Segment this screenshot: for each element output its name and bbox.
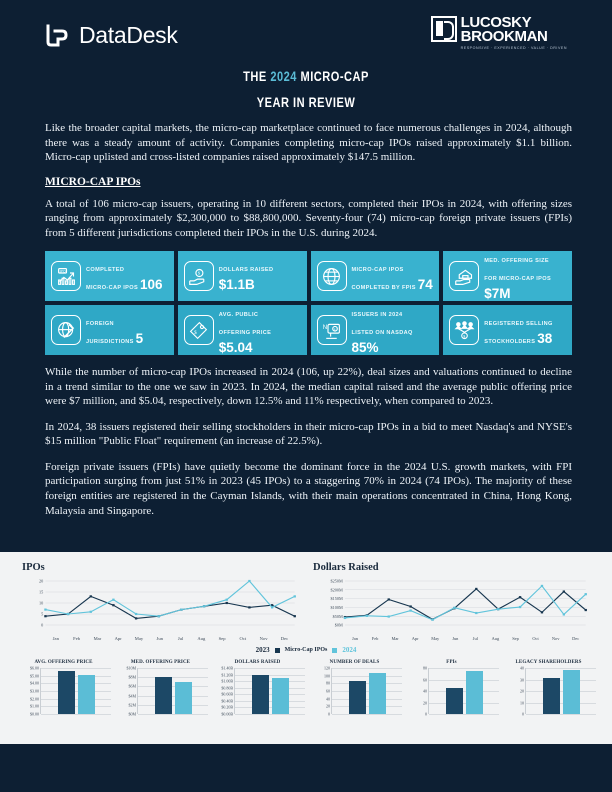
paragraph-5: Foreign private issuers (FPIs) have quie… — [45, 460, 572, 518]
svg-text:$200M: $200M — [331, 588, 344, 593]
title-prefix: THE — [243, 69, 270, 84]
bar-y-axis: $0M$2M$4M$6M$8M$10M — [113, 668, 137, 714]
legend-series-title: Micro-Cap IPOs — [285, 647, 328, 653]
svg-text:$250M: $250M — [331, 579, 344, 584]
bar-y-tick: $8M — [128, 675, 136, 680]
x-tick-label: Aug — [485, 636, 505, 641]
stat-card-label: DOLLARS RAISED — [219, 267, 274, 273]
gridline — [138, 705, 208, 706]
gridline — [41, 676, 111, 677]
title-line-1: THE 2024 MICRO-CAP — [55, 64, 557, 90]
datadesk-wordmark: DataDesk — [79, 22, 178, 49]
x-tick-label: Jul — [465, 636, 485, 641]
gridline — [41, 706, 111, 707]
x-tick-label: Jun — [149, 636, 170, 641]
x-axis-dollars-raised: JanFebMarAprMayJunJulAugSepOctNovDec — [345, 636, 586, 641]
bar-y-axis: 020406080 — [404, 668, 428, 714]
bar-y-tick: 120 — [324, 666, 330, 671]
bar-y-tick: 10 — [520, 700, 524, 705]
gridline — [526, 668, 596, 669]
lucosky-lb-monogram-icon — [431, 16, 457, 42]
stat-card-fpi-ipos: MICRO-CAP IPOS COMPLETED BY FPIS 74 — [311, 251, 440, 301]
gridline — [429, 680, 499, 681]
bar-y-tick: $6M — [128, 684, 136, 689]
stat-card-avg-public-offering-price: $ AVG. PUBLIC OFFERING PRICE $5.04 — [178, 305, 307, 355]
stat-card-dollars-raised: $ DOLLARS RAISED $1.1B — [178, 251, 307, 301]
title-suffix: MICRO-CAP — [297, 69, 369, 84]
x-tick-label: Mar — [385, 636, 405, 641]
legend-label-2024: 2024 — [342, 646, 356, 654]
bar-2024 — [466, 671, 483, 714]
line-plot-dollars-raised: $0M$50M$100M$150M$200M$250M — [313, 577, 590, 635]
svg-text:15: 15 — [39, 590, 43, 595]
stat-label-line1: REGISTERED SELLING — [484, 321, 552, 327]
bar-y-tick: $4.00 — [30, 681, 39, 686]
bar-y-tick: $10M — [126, 666, 136, 671]
paragraph-2: A total of 106 micro-cap issuers, operat… — [45, 197, 572, 241]
gridline — [526, 691, 596, 692]
bar-y-tick: 60 — [423, 677, 427, 682]
stat-card-label: MED. OFFERING SIZE FOR MICRO-CAP IPOS — [484, 258, 551, 282]
stat-card-grid: IPO COMPLETED MICRO-CAP IPOS 106 — [45, 251, 572, 355]
gridline — [235, 681, 305, 682]
gridline — [41, 699, 111, 700]
bar-y-tick: $1.20B — [221, 672, 233, 677]
bar-y-tick: 20 — [423, 700, 427, 705]
gridline — [235, 668, 305, 669]
bar-y-tick: 80 — [423, 666, 427, 671]
gridline — [235, 675, 305, 676]
bar-y-tick: $6.00 — [30, 666, 39, 671]
stat-card-value: $5.04 — [219, 340, 253, 355]
chart-legend: 2023 Micro-Cap IPOs 2024 — [0, 646, 612, 654]
svg-text:20: 20 — [39, 579, 43, 584]
gridline — [41, 714, 111, 715]
x-tick-label: Sep — [212, 636, 233, 641]
bar-chart-dollars-raised: DOLLARS RAISED$0.00B$0.20B$0.40B$0.60B$0… — [210, 660, 305, 714]
x-tick-label: Apr — [108, 636, 129, 641]
bar-y-tick: $1.00B — [221, 679, 233, 684]
stat-card-completed-ipos: IPO COMPLETED MICRO-CAP IPOS 106 — [45, 251, 174, 301]
stat-card-med-offering-size: MED. OFFERING SIZE FOR MICRO-CAP IPOS $7… — [443, 251, 572, 301]
gridline — [526, 680, 596, 681]
stockholders-icon: $ — [449, 315, 479, 345]
x-tick-label: Jan — [45, 636, 66, 641]
legend-label-2023: 2023 — [256, 646, 270, 654]
bar-2023 — [349, 681, 366, 714]
x-tick-label: Nov — [253, 636, 274, 641]
gridline — [429, 668, 499, 669]
gridline — [429, 703, 499, 704]
legend-swatch-2024 — [332, 648, 337, 653]
paragraph-3: While the number of micro-cap IPOs incre… — [45, 365, 572, 409]
bar-chart-number-of-deals: NUMBER OF DEALS020406080100120 — [307, 660, 402, 714]
paragraph-4: In 2024, 38 issuers registered their sel… — [45, 420, 572, 449]
gridline — [332, 714, 402, 715]
stat-label-line1: ISSUERS IN 2024 — [352, 312, 403, 318]
bar-plot-area — [525, 668, 596, 714]
svg-text:IPO: IPO — [59, 269, 65, 273]
bar-2024 — [175, 682, 192, 714]
paragraph-intro: Like the broader capital markets, the mi… — [45, 121, 572, 165]
gridline — [429, 714, 499, 715]
stat-card-label: FOREIGN JURISDICTIONS — [86, 321, 136, 345]
bar-y-tick: 100 — [324, 673, 330, 678]
bar-chart-title: AVG. OFFERING PRICE — [16, 660, 111, 665]
bar-y-axis: $0.00$1.00$2.00$3.00$4.00$5.00$6.00 — [16, 668, 40, 714]
bar-chart-fpis: FPIs020406080 — [404, 660, 499, 714]
gridline — [235, 694, 305, 695]
x-tick-label: Aug — [191, 636, 212, 641]
gridline — [526, 714, 596, 715]
x-tick-label: May — [425, 636, 445, 641]
svg-text:$50M: $50M — [333, 614, 344, 619]
x-tick-label: Dec — [274, 636, 295, 641]
x-tick-label: Jul — [170, 636, 191, 641]
bar-chart-title: NUMBER OF DEALS — [307, 660, 402, 665]
bar-y-tick: 40 — [326, 696, 330, 701]
section-heading-micro-cap-ipos: MICRO-CAP IPOs — [45, 176, 572, 188]
bar-2023 — [252, 675, 269, 714]
stat-card-label: COMPLETED MICRO-CAP IPOS — [86, 267, 140, 291]
bar-y-tick: 0 — [425, 712, 427, 717]
bar-chart-avg-offering-price: AVG. OFFERING PRICE$0.00$1.00$2.00$3.00$… — [16, 660, 111, 714]
nasdaq-monitor-icon: $ N — [317, 315, 347, 345]
report-title: THE 2024 MICRO-CAP YEAR IN REVIEW — [0, 64, 612, 115]
bar-y-tick: $2M — [128, 702, 136, 707]
hand-house-icon — [449, 261, 479, 291]
svg-text:5: 5 — [41, 612, 43, 617]
bar-chart-title: DOLLARS RAISED — [210, 660, 305, 665]
stat-card-value: 74 — [418, 277, 433, 292]
x-tick-label: Oct — [232, 636, 253, 641]
stat-label-line1: AVG. PUBLIC — [219, 312, 259, 318]
stat-label-line2: OFFERING PRICE — [219, 330, 271, 336]
stat-card-value: 5 — [136, 331, 144, 346]
bar-y-tick: 0 — [328, 712, 330, 717]
stat-card-value: 38 — [537, 331, 552, 346]
gridline — [41, 668, 111, 669]
stat-label-line2: MICRO-CAP IPOS — [86, 285, 138, 291]
title-year: 2024 — [270, 69, 297, 84]
gridline — [138, 714, 208, 715]
gridline — [41, 683, 111, 684]
price-tag-icon: $ — [184, 315, 214, 345]
stat-card-value: 85% — [352, 340, 379, 355]
bar-y-tick: 60 — [326, 689, 330, 694]
bar-y-axis: 020406080100120 — [307, 668, 331, 714]
report-page: DataDesk LUCOSKY BROOKMAN RESPONSIVE · E… — [0, 0, 612, 792]
stat-label-line2: JURISDICTIONS — [86, 339, 134, 345]
gridline — [235, 714, 305, 715]
bar-y-axis: $0.00B$0.20B$0.40B$0.60B$0.80B$1.00B$1.2… — [210, 668, 234, 714]
gridline — [41, 691, 111, 692]
svg-text:$: $ — [334, 327, 336, 331]
gridline — [332, 676, 402, 677]
gridline — [235, 701, 305, 702]
bar-y-tick: $0.80B — [221, 685, 233, 690]
datadesk-logo: DataDesk — [45, 22, 178, 49]
report-body: Like the broader capital markets, the mi… — [0, 115, 612, 518]
bar-2023 — [58, 671, 75, 714]
chart-title-ipos: IPOs — [22, 562, 299, 573]
chart-title-dollars-raised: Dollars Raised — [313, 562, 590, 573]
x-axis-ipos: JanFebMarAprMayJunJulAugSepOctNovDec — [45, 636, 294, 641]
bar-y-tick: 80 — [326, 681, 330, 686]
bar-y-tick: 30 — [520, 677, 524, 682]
stat-label-line2: FOR MICRO-CAP IPOS — [484, 276, 551, 282]
bar-y-tick: $0M — [128, 712, 136, 717]
gridline — [332, 668, 402, 669]
bar-2023 — [543, 678, 560, 714]
bar-y-tick: $0.20B — [221, 705, 233, 710]
x-tick-label: Apr — [405, 636, 425, 641]
x-tick-label: Dec — [566, 636, 586, 641]
stat-card-registered-selling-stockholders: $ REGISTERED SELLING STOCKHOLDERS 38 — [443, 305, 572, 355]
bar-y-tick: 40 — [423, 689, 427, 694]
x-tick-label: Jan — [345, 636, 365, 641]
page-footer — [0, 744, 612, 792]
chart-ipos: IPOs 05101520 JanFebMarAprMayJunJulAugSe… — [22, 562, 299, 641]
bar-2024 — [272, 678, 289, 714]
gridline — [332, 706, 402, 707]
bar-y-tick: $2.00 — [30, 696, 39, 701]
lucosky-line2: BROOKMAN — [461, 30, 567, 44]
stat-card-foreign-jurisdictions: FOREIGN JURISDICTIONS 5 — [45, 305, 174, 355]
bar-y-tick: 20 — [520, 689, 524, 694]
bar-chart-title: FPIs — [404, 660, 499, 665]
bar-y-tick: $1.40B — [221, 666, 233, 671]
bar-plot-area — [331, 668, 402, 714]
gridline — [235, 688, 305, 689]
bar-y-tick: $5.00 — [30, 673, 39, 678]
x-tick-label: Jun — [445, 636, 465, 641]
bar-y-tick: $4M — [128, 693, 136, 698]
stat-card-label: AVG. PUBLIC OFFERING PRICE — [219, 312, 271, 336]
line-plot-ipos: 05101520 — [22, 577, 299, 635]
bar-plot-area — [137, 668, 208, 714]
datadesk-logo-icon — [45, 23, 70, 48]
x-tick-label: May — [129, 636, 150, 641]
stat-label-line2: STOCKHOLDERS — [484, 339, 535, 345]
stat-card-value: $7M — [484, 286, 510, 301]
x-tick-label: Nov — [546, 636, 566, 641]
svg-text:$0M: $0M — [335, 623, 343, 628]
stat-card-label: MICRO-CAP IPOS COMPLETED BY FPIS — [352, 267, 418, 291]
stat-card-value: $1.1B — [219, 277, 255, 292]
ipo-chart-icon: IPO — [51, 261, 81, 291]
title-line-2: YEAR IN REVIEW — [55, 90, 557, 116]
bar-chart-legacy-shareholders: LEGACY SHAREHOLDERS010203040 — [501, 660, 596, 714]
svg-text:N: N — [323, 324, 327, 331]
bar-y-tick: $0.60B — [221, 692, 233, 697]
gridline — [138, 668, 208, 669]
stat-label-line2: LISTED ON NASDAQ — [352, 330, 413, 336]
svg-text:10: 10 — [39, 601, 43, 606]
globe-gavel-icon — [51, 315, 81, 345]
bar-y-tick: $0.40B — [221, 698, 233, 703]
lucosky-tagline: RESPONSIVE · EXPERIENCED · VALUE · DRIVE… — [461, 47, 567, 50]
bar-plot-area — [428, 668, 499, 714]
legend-swatch-2023 — [275, 648, 280, 653]
bar-y-tick: 0 — [522, 712, 524, 717]
bar-y-tick: $1.00 — [30, 704, 39, 709]
svg-text:$150M: $150M — [331, 596, 344, 601]
gridline — [138, 696, 208, 697]
x-tick-label: Feb — [365, 636, 385, 641]
bar-chart-title: MED. OFFERING PRICE — [113, 660, 208, 665]
gridline — [138, 677, 208, 678]
bar-y-axis: 010203040 — [501, 668, 525, 714]
lucosky-brookman-logo: LUCOSKY BROOKMAN RESPONSIVE · EXPERIENCE… — [431, 16, 567, 50]
bar-y-tick: 20 — [326, 704, 330, 709]
stat-label-line2: COMPLETED BY FPIS — [352, 285, 416, 291]
x-tick-label: Oct — [526, 636, 546, 641]
stat-card-label: ISSUERS IN 2024 LISTED ON NASDAQ — [352, 312, 413, 336]
gridline — [429, 691, 499, 692]
gridline — [138, 686, 208, 687]
line-charts-row: IPOs 05101520 JanFebMarAprMayJunJulAugSe… — [0, 552, 612, 641]
svg-text:$: $ — [198, 270, 201, 275]
bar-y-tick: $0.00 — [30, 712, 39, 717]
bar-chart-med-offering-price: MED. OFFERING PRICE$0M$2M$4M$6M$8M$10M — [113, 660, 208, 714]
stat-label-line1: MICRO-CAP IPOS — [352, 267, 404, 273]
bar-2024 — [369, 673, 386, 714]
bar-y-tick: 40 — [520, 666, 524, 671]
stat-label-line1: FOREIGN — [86, 321, 114, 327]
stat-card-nasdaq-listed: $ N ISSUERS IN 2024 LISTED ON NASDAQ 85% — [311, 305, 440, 355]
stat-card-value: 106 — [140, 277, 163, 292]
gridline — [332, 699, 402, 700]
hand-coin-icon: $ — [184, 261, 214, 291]
svg-text:$100M: $100M — [331, 605, 344, 610]
bar-2024 — [563, 670, 580, 714]
x-tick-label: Mar — [87, 636, 108, 641]
bar-2023 — [446, 688, 463, 714]
x-tick-label: Sep — [505, 636, 525, 641]
bar-y-tick: $0.00B — [221, 712, 233, 717]
stat-label-line1: MED. OFFERING SIZE — [484, 258, 549, 264]
bar-2024 — [78, 675, 95, 714]
gridline — [332, 683, 402, 684]
globe-icon — [317, 261, 347, 291]
stat-label-line1: COMPLETED — [86, 267, 124, 273]
bar-charts-row: AVG. OFFERING PRICE$0.00$1.00$2.00$3.00$… — [0, 654, 612, 714]
bar-plot-area — [234, 668, 305, 714]
page-header: DataDesk LUCOSKY BROOKMAN RESPONSIVE · E… — [0, 0, 612, 60]
svg-text:$: $ — [194, 329, 197, 336]
chart-dollars-raised: Dollars Raised $0M$50M$100M$150M$200M$25… — [313, 562, 590, 641]
svg-text:0: 0 — [41, 623, 43, 628]
gridline — [332, 691, 402, 692]
charts-panel: IPOs 05101520 JanFebMarAprMayJunJulAugSe… — [0, 552, 612, 744]
x-tick-label: Feb — [66, 636, 87, 641]
gridline — [235, 707, 305, 708]
gridline — [526, 703, 596, 704]
bar-chart-title: LEGACY SHAREHOLDERS — [501, 660, 596, 665]
bar-plot-area — [40, 668, 111, 714]
bar-y-tick: $3.00 — [30, 689, 39, 694]
bar-2023 — [155, 677, 172, 714]
